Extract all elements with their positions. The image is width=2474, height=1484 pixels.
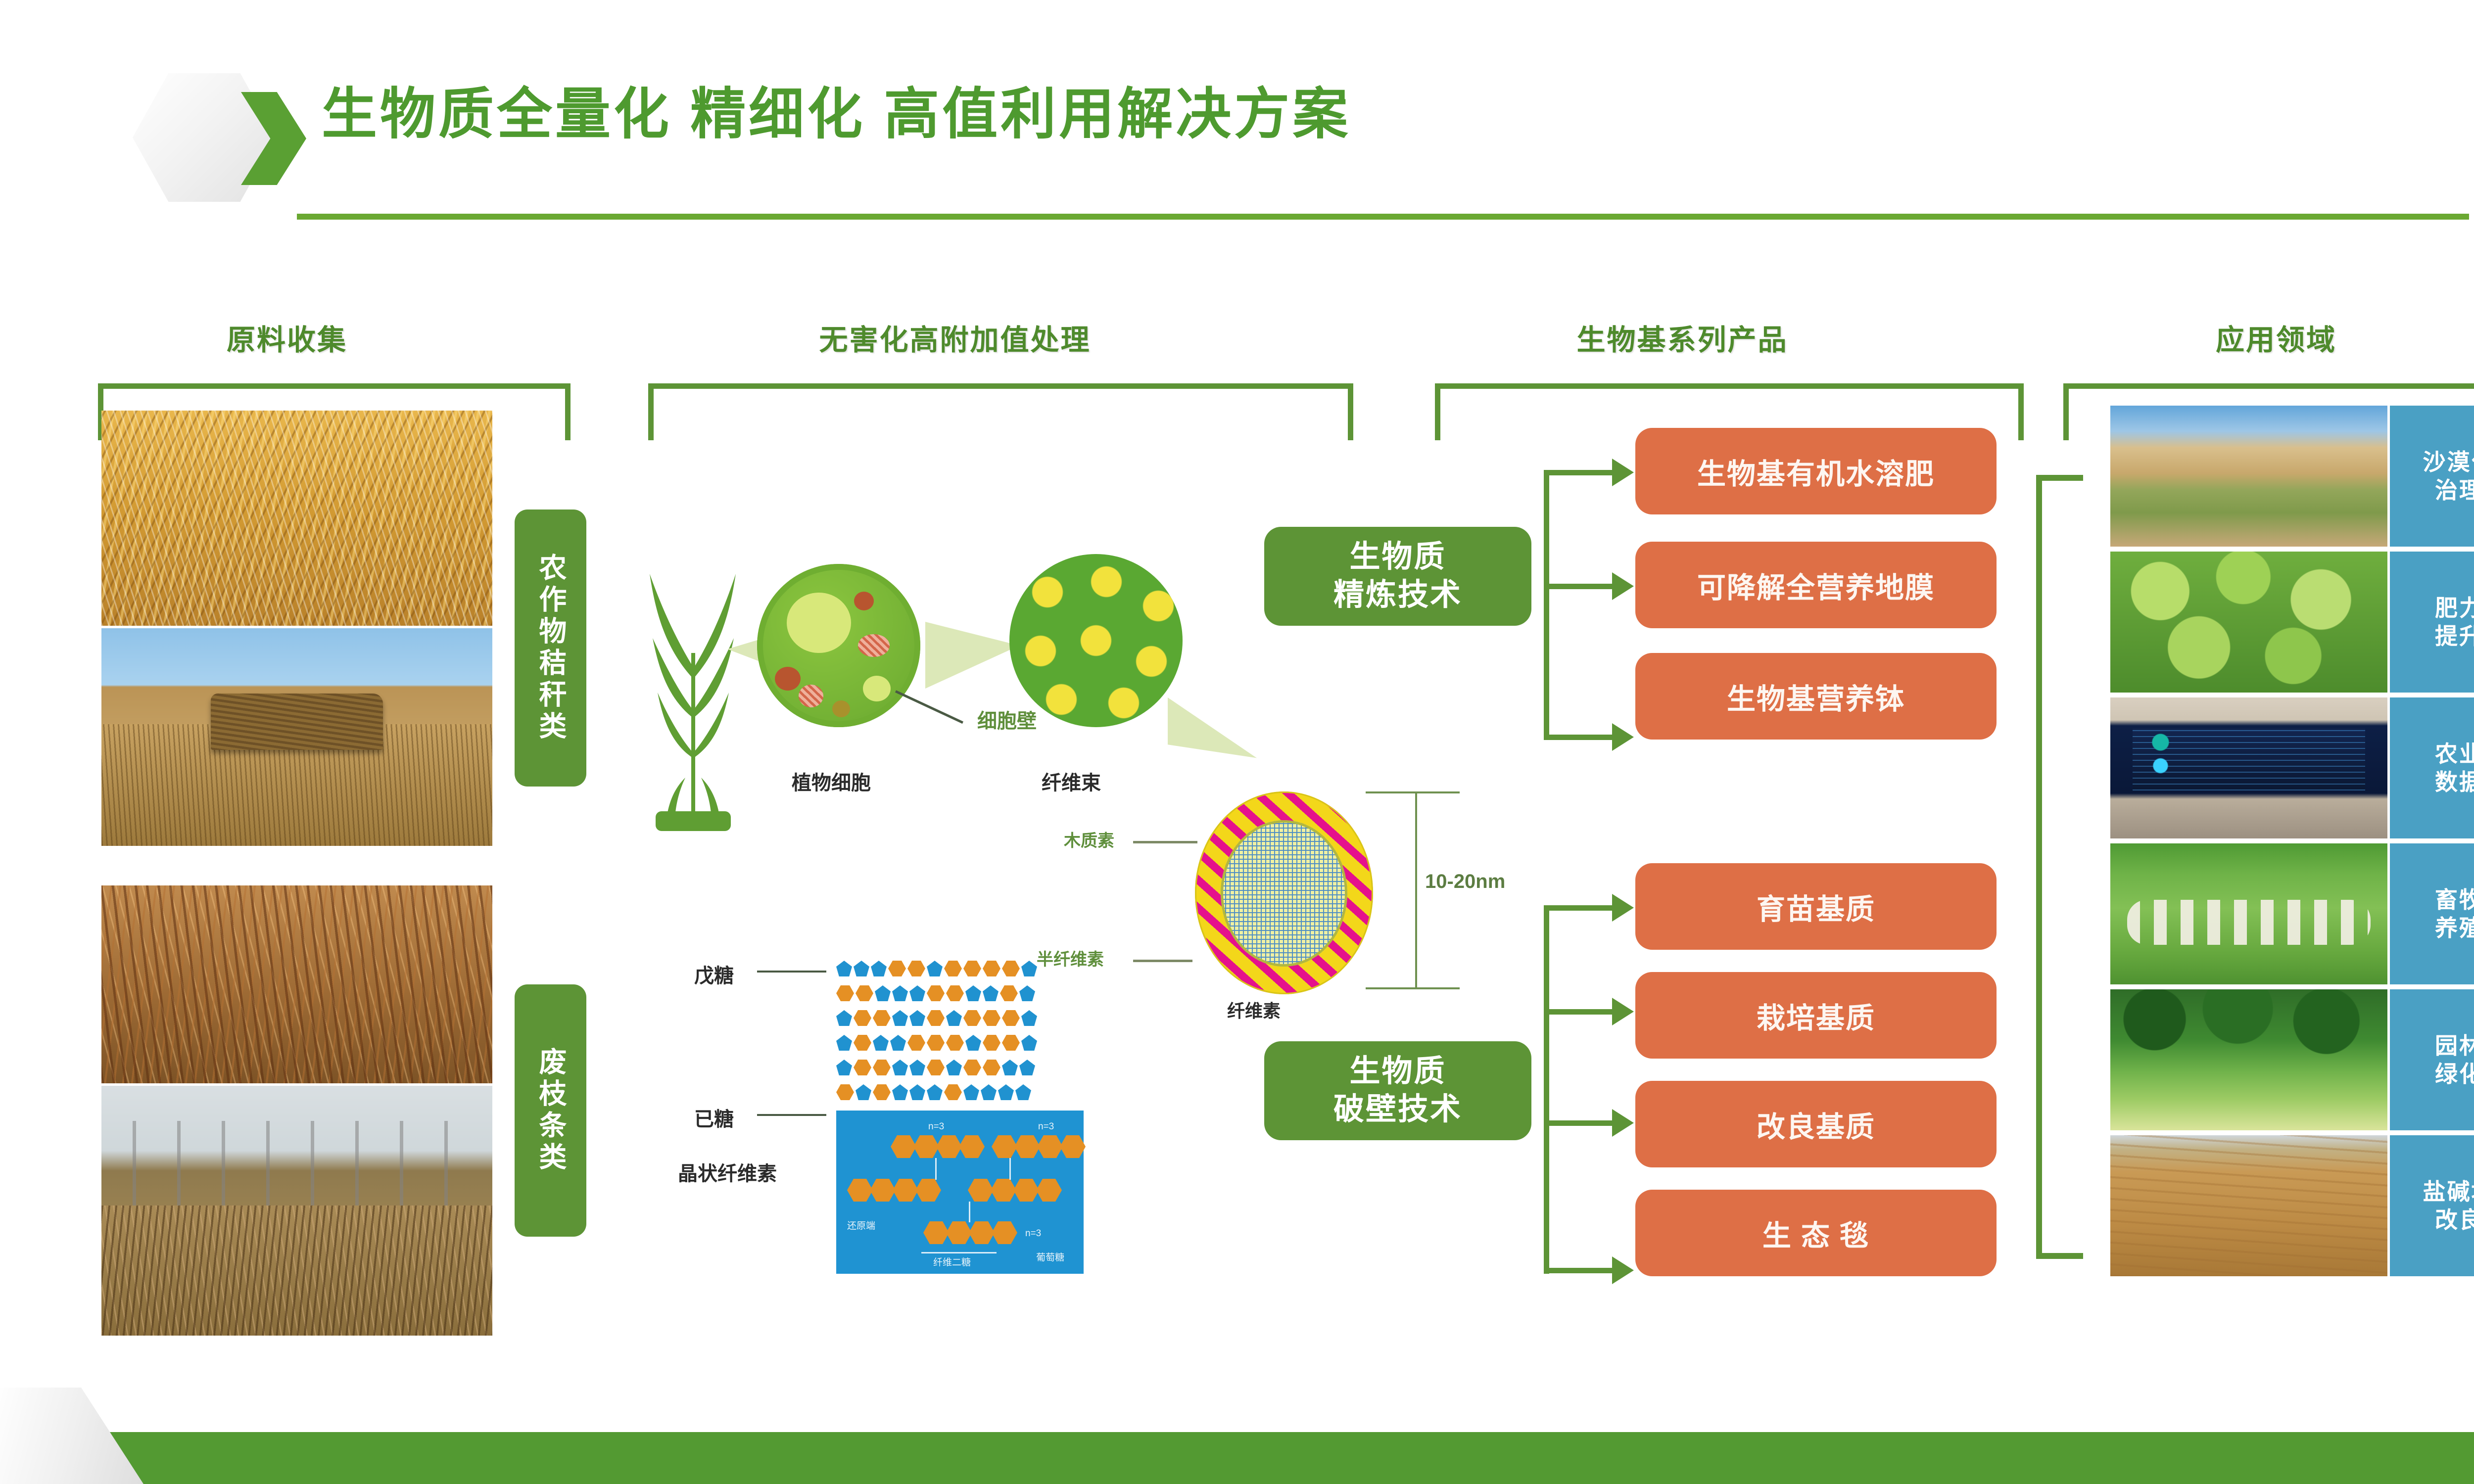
app-tag-line-1: 畜牧 bbox=[2435, 886, 2474, 914]
product-nutrient-pot[interactable]: 生物基营养钵 bbox=[1635, 653, 1997, 740]
app-landscape-greening[interactable]: 园林 绿化 bbox=[2390, 989, 2474, 1130]
section-title-harmless-processing: 无害化高附加值处理 bbox=[708, 317, 1202, 358]
fiber-bundle-label: 纤维束 bbox=[1042, 767, 1101, 795]
panel-note-n3-c: n=3 bbox=[1025, 1228, 1041, 1239]
flow-arrowhead-1-1 bbox=[1612, 459, 1634, 486]
bracket-applications bbox=[2036, 475, 2083, 1259]
panel-note-reducing-end: 还原端 bbox=[847, 1218, 875, 1232]
biomass-wall-breaking-tech[interactable]: 生物质 破壁技术 bbox=[1264, 1041, 1531, 1140]
dimension-label: 10-20nm bbox=[1425, 871, 1505, 893]
grazing-sheep-photo bbox=[2110, 843, 2387, 984]
infographic-canvas: 生物质全量化 精细化 高值利用解决方案 原料收集 无害化高附加值处理 生物基系列… bbox=[0, 0, 2474, 1484]
flow-arrowhead-1-3 bbox=[1612, 723, 1634, 751]
app-tag-line-1: 农业 bbox=[2435, 740, 2474, 768]
park-greening-photo bbox=[2110, 989, 2387, 1130]
desert-restoration-photo bbox=[2110, 406, 2387, 547]
section-title-biobased-products: 生物基系列产品 bbox=[1435, 317, 1930, 358]
magnify-beam-2 bbox=[925, 616, 1019, 690]
hexose-label: 已糖 bbox=[694, 1103, 734, 1132]
crop-straw-tag: 农作物秸秆类 bbox=[515, 510, 586, 787]
sugar-chain-row bbox=[836, 1060, 1035, 1075]
plant-cell-illustration bbox=[757, 564, 920, 727]
tech-line-1: 生物质 bbox=[1349, 1053, 1446, 1091]
waste-branch-tag: 废枝条类 bbox=[515, 984, 586, 1237]
straw-bale-photo bbox=[101, 628, 492, 846]
product-water-soluble-fertilizer[interactable]: 生物基有机水溶肥 bbox=[1635, 428, 1997, 514]
bracket-harmless-processing bbox=[648, 383, 1353, 440]
dry-branches-photo bbox=[101, 885, 492, 1083]
cell-wall-leader-line bbox=[895, 690, 963, 724]
section-title-raw-material: 原料收集 bbox=[163, 317, 411, 358]
crystalline-cellulose-label: 晶状纤维素 bbox=[678, 1158, 777, 1186]
app-tag-line-2: 绿化 bbox=[2435, 1060, 2474, 1088]
product-improvement-substrate[interactable]: 改良基质 bbox=[1635, 1081, 1997, 1167]
cellulose-label: 纤维素 bbox=[1227, 997, 1281, 1022]
flow-arrowhead-2-1 bbox=[1612, 894, 1634, 922]
flow-arrowhead-2-3 bbox=[1612, 1109, 1634, 1137]
vineyard-pruning-photo bbox=[101, 1086, 492, 1336]
app-tag-line-2: 提升 bbox=[2435, 622, 2474, 650]
tech-line-2: 精炼技术 bbox=[1333, 576, 1462, 614]
cell-wall-label: 细胞壁 bbox=[977, 705, 1037, 734]
corn-stalk-photo bbox=[101, 411, 492, 626]
hemicellulose-label: 半纤维素 bbox=[1037, 946, 1104, 970]
biomass-refining-tech[interactable]: 生物质 精炼技术 bbox=[1264, 527, 1531, 626]
page-title: 生物质全量化 精细化 高值利用解决方案 bbox=[322, 87, 1351, 142]
panel-note-glucose: 葡萄糖 bbox=[1036, 1250, 1064, 1263]
app-tag-line-2: 改良 bbox=[2435, 1206, 2474, 1234]
lignin-leader-line bbox=[1133, 841, 1197, 843]
flow-arrowhead-2-4 bbox=[1612, 1256, 1634, 1284]
app-saline-alkali-improvement[interactable]: 盐碱地 改良 bbox=[2390, 1135, 2474, 1276]
flow-arm-2-3 bbox=[1544, 1120, 1613, 1126]
app-tag-line-1: 盐碱地 bbox=[2423, 1178, 2474, 1206]
plant-cell-label: 植物细胞 bbox=[792, 767, 871, 795]
app-agricultural-data[interactable]: 农业 数据 bbox=[2390, 697, 2474, 838]
hemicellulose-leader-line bbox=[1133, 960, 1192, 962]
tech-line-1: 生物质 bbox=[1349, 538, 1446, 576]
flow-arrowhead-1-2 bbox=[1612, 572, 1634, 600]
data-control-room-photo bbox=[2110, 697, 2387, 838]
magnify-beam-3 bbox=[1168, 697, 1257, 782]
app-fertility-improvement[interactable]: 肥力 提升 bbox=[2390, 552, 2474, 693]
product-degradable-mulch-film[interactable]: 可降解全营养地膜 bbox=[1635, 542, 1997, 628]
tech-line-2: 破壁技术 bbox=[1333, 1091, 1462, 1129]
plant-grass-icon bbox=[636, 554, 750, 831]
flow-arm-1-3 bbox=[1544, 735, 1613, 740]
flow-arm-2-2 bbox=[1544, 1009, 1613, 1015]
app-tag-line-1: 肥力 bbox=[2435, 594, 2474, 622]
title-underline bbox=[297, 214, 2469, 220]
app-desertification-control[interactable]: 沙漠化 治理 bbox=[2390, 406, 2474, 547]
dimension-line bbox=[1415, 791, 1417, 989]
fiber-bundle-illustration bbox=[1009, 554, 1183, 727]
panel-note-cellobiose: 纤维二糖 bbox=[933, 1255, 971, 1268]
flow-arm-2-4 bbox=[1544, 1268, 1613, 1273]
app-tag-line-2: 治理 bbox=[2435, 476, 2474, 504]
flow-arm-2-1 bbox=[1544, 905, 1613, 911]
dimension-top-tick bbox=[1366, 791, 1460, 793]
footer-bar bbox=[106, 1432, 2474, 1484]
flow-arm-1-1 bbox=[1544, 470, 1613, 475]
sugar-chain-row bbox=[836, 1035, 1037, 1051]
pentose-label: 戊糖 bbox=[694, 960, 734, 988]
dimension-bottom-tick bbox=[1366, 987, 1460, 989]
cabbage-field-photo bbox=[2110, 552, 2387, 693]
app-tag-line-2: 数据 bbox=[2435, 768, 2474, 796]
panel-note-n3-a: n=3 bbox=[928, 1121, 944, 1132]
app-tag-line-1: 园林 bbox=[2435, 1032, 2474, 1060]
product-cultivation-substrate[interactable]: 栽培基质 bbox=[1635, 972, 1997, 1059]
saline-land-photo bbox=[2110, 1135, 2387, 1276]
flow-trunk-2 bbox=[1544, 908, 1549, 1274]
sugar-chain-row bbox=[836, 961, 1037, 976]
section-title-application-fields: 应用领域 bbox=[2078, 317, 2474, 358]
cellulose-cross-section bbox=[1195, 791, 1373, 994]
pentose-leader-line bbox=[757, 971, 826, 973]
flow-arrowhead-2-2 bbox=[1612, 998, 1634, 1025]
app-tag-line-2: 养殖 bbox=[2435, 914, 2474, 942]
lignin-label: 木质素 bbox=[1064, 827, 1114, 851]
sugar-chain-row bbox=[836, 1010, 1037, 1026]
panel-note-n3-b: n=3 bbox=[1038, 1121, 1054, 1132]
app-tag-line-1: 沙漠化 bbox=[2423, 448, 2474, 476]
sugar-chain-row bbox=[836, 985, 1035, 1001]
flow-trunk-1 bbox=[1544, 472, 1549, 740]
app-livestock-breeding[interactable]: 畜牧 养殖 bbox=[2390, 843, 2474, 984]
product-seedling-substrate[interactable]: 育苗基质 bbox=[1635, 863, 1997, 950]
flow-arm-1-2 bbox=[1544, 584, 1613, 589]
product-ecological-blanket[interactable]: 生 态 毯 bbox=[1635, 1190, 1997, 1276]
crystalline-cellulose-panel: n=3 n=3 n=3 还原端 葡萄糖 纤维二糖 bbox=[836, 1111, 1084, 1274]
hexose-leader-line bbox=[757, 1114, 826, 1116]
sugar-chain-row bbox=[836, 1084, 1031, 1100]
